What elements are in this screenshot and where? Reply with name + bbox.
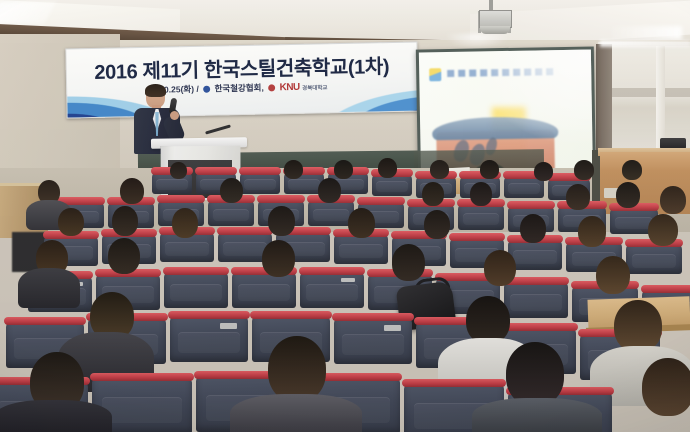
- lecture-hall-photo: 2016 제11기 한국스틸건축학교(1차) .10.25(화) / 한국철강협…: [0, 0, 690, 432]
- attendee-head: [648, 214, 678, 246]
- seat-number-plate: [220, 323, 237, 329]
- right-wall-column-dark: [596, 44, 612, 164]
- attendee-head: [348, 208, 375, 238]
- seat: [334, 318, 412, 364]
- attendee-head: [172, 208, 198, 238]
- ceiling-light-right: [612, 26, 682, 40]
- attendee-head: [480, 160, 499, 179]
- attendee-head: [120, 178, 144, 204]
- attendee-head: [112, 206, 138, 236]
- event-banner: 2016 제11기 한국스틸건축학교(1차) .10.25(화) / 한국철강협…: [65, 41, 418, 118]
- attendee-head: [520, 214, 546, 243]
- seat: [300, 272, 364, 308]
- attendee-head: [262, 240, 295, 277]
- attendee-head: [660, 186, 686, 214]
- attendee-head: [378, 158, 397, 178]
- speaker-hand: [170, 111, 179, 120]
- attendee-head: [614, 300, 662, 352]
- seat: [504, 282, 568, 318]
- right-wall-stripe: [612, 88, 690, 97]
- attendee-head: [268, 206, 295, 236]
- attendee-shoulders: [472, 398, 602, 432]
- attendee-head: [470, 182, 492, 206]
- attendee-head: [392, 244, 425, 281]
- seat: [208, 200, 254, 226]
- seat: [508, 240, 562, 270]
- seat: [626, 244, 682, 274]
- seat: [170, 316, 248, 362]
- attendee-head: [622, 160, 642, 180]
- knu-logo-icon: [268, 84, 275, 91]
- attendee-head: [334, 160, 353, 179]
- steel-association-logo-icon: [203, 86, 210, 93]
- right-ceiling-light: [600, 40, 690, 47]
- attendee-head: [466, 296, 510, 344]
- speaker-hair: [145, 84, 166, 97]
- seat-number-plate: [384, 325, 401, 331]
- attendee-head: [170, 162, 187, 179]
- attendee-head: [596, 256, 630, 294]
- attendee-head: [108, 238, 140, 274]
- banner-knu-mark: KNU: [279, 82, 299, 93]
- attendee-head: [484, 250, 516, 286]
- attendee-head: [574, 160, 594, 180]
- attendee-head: [58, 208, 84, 236]
- attendee-head: [268, 336, 326, 402]
- attendee-shoulders: [18, 268, 80, 308]
- seat: [232, 272, 296, 308]
- attendee-shoulders: [230, 394, 362, 432]
- attendee-head: [642, 358, 690, 416]
- attendee-head: [430, 160, 449, 179]
- attendee-head: [616, 182, 640, 208]
- attendee-head: [284, 160, 303, 179]
- seat: [164, 272, 228, 308]
- attendee-head: [220, 178, 243, 203]
- attendee-head: [422, 182, 444, 206]
- attendee-head: [506, 342, 564, 406]
- attendee-head: [318, 178, 341, 203]
- attendee-head: [578, 216, 606, 247]
- banner-knu-name: 경북대학교: [302, 85, 327, 92]
- banner-separator: /: [196, 84, 199, 94]
- seat: [334, 234, 388, 264]
- projector-lens: [480, 26, 510, 34]
- banner-organizer-1: 한국철강협회: [214, 83, 261, 94]
- attendee-head: [566, 184, 590, 210]
- seat: [458, 204, 504, 230]
- attendee-head: [534, 162, 553, 181]
- seat: [372, 174, 412, 196]
- attendee-head: [424, 210, 450, 239]
- seat-number-plate: [341, 278, 355, 283]
- attendee-shoulders: [0, 400, 112, 432]
- seat: [240, 172, 280, 194]
